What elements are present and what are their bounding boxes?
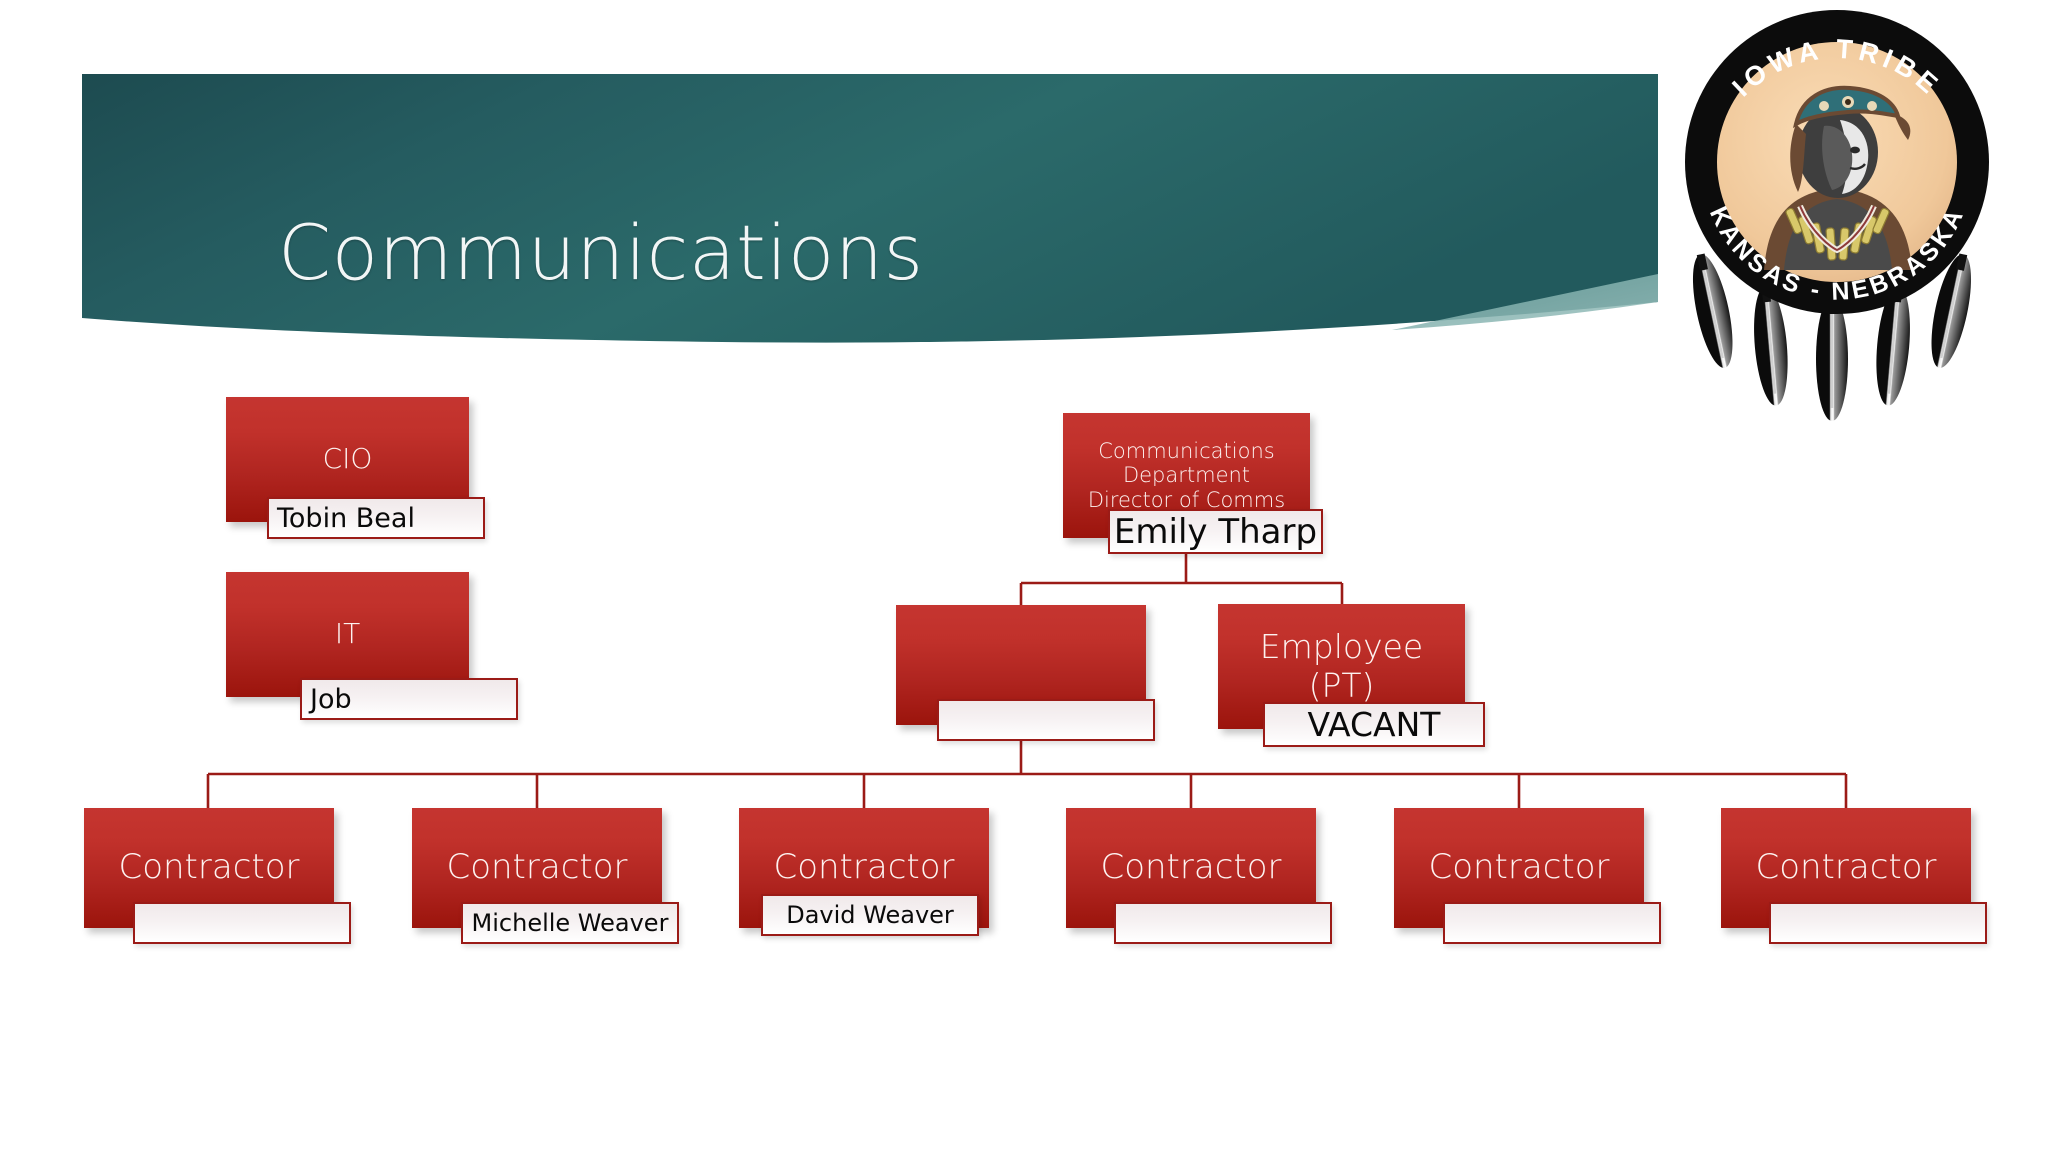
communications-department-node-person-label[interactable]: Emily Tharp — [1108, 509, 1323, 554]
contractor-node-1-person-label[interactable] — [133, 902, 351, 944]
employee-pt-node-title: Employee(PT) — [1260, 628, 1423, 705]
contractor-node-2-person-name: Michelle Weaver — [463, 909, 677, 937]
slide-canvas: Communications — [0, 0, 2048, 1152]
contractor-node-1-title: Contractor — [118, 848, 299, 887]
contractor-node-6-title: Contractor — [1755, 848, 1936, 887]
contractor-node-3-title: Contractor — [773, 848, 954, 887]
it-node-title: IT — [335, 618, 360, 650]
cio-node-title: CIO — [323, 443, 373, 475]
tribe-seal-icon: IOWA TRIBE KANSAS - NEBRASKA — [1672, 2, 2002, 454]
it-node-person-label[interactable]: Job — [300, 678, 518, 720]
cio-node-person-label[interactable]: Tobin Beal — [267, 497, 485, 539]
contractor-node-2-title: Contractor — [446, 848, 627, 887]
it-node-person-name: Job — [310, 684, 516, 715]
communications-department-node-person-name: Emily Tharp — [1110, 512, 1321, 552]
contractor-node-3-person-name: David Weaver — [763, 901, 977, 929]
communications-department-node-title: CommunicationsDepartmentDirector of Comm… — [1088, 439, 1285, 512]
employee-pt-node-person-label[interactable]: VACANT — [1263, 702, 1485, 747]
contractor-node-5-title: Contractor — [1428, 848, 1609, 887]
communications-staff-node-title — [1017, 649, 1026, 681]
contractor-node-4-title: Contractor — [1100, 848, 1281, 887]
iowa-tribe-logo: IOWA TRIBE KANSAS - NEBRASKA — [1672, 2, 2002, 454]
cio-node-person-name: Tobin Beal — [277, 503, 483, 534]
contractor-node-2-person-label[interactable]: Michelle Weaver — [461, 902, 679, 944]
banner-accent-wedge — [1392, 274, 1658, 330]
communications-staff-node-person-label[interactable] — [937, 699, 1155, 741]
contractor-node-3-person-label[interactable]: David Weaver — [761, 894, 979, 936]
employee-pt-node-person-name: VACANT — [1265, 705, 1483, 744]
contractor-node-6-person-label[interactable] — [1769, 902, 1987, 944]
contractor-node-4-person-label[interactable] — [1114, 902, 1332, 944]
contractor-node-5-person-label[interactable] — [1443, 902, 1661, 944]
page-title: Communications — [278, 208, 924, 297]
